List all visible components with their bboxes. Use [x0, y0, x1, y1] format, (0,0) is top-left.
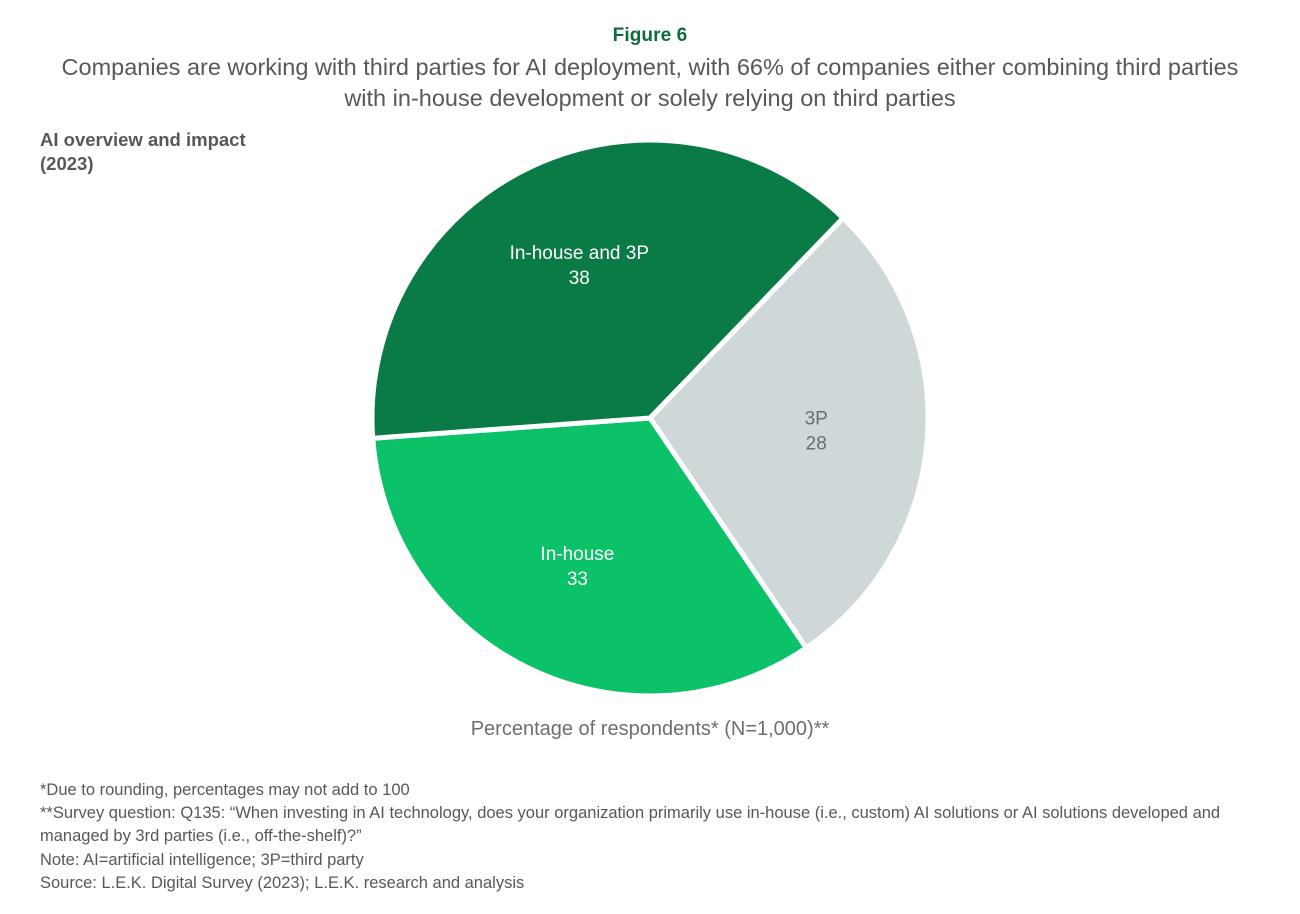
footnote-survey-question: **Survey question: Q135: “When investing… — [40, 802, 1250, 848]
pie-slice-value: 28 — [806, 433, 827, 454]
figure-page: Figure 6 Companies are working with thir… — [0, 0, 1300, 914]
footnote-rounding: *Due to rounding, percentages may not ad… — [40, 779, 1250, 802]
pie-slice-group — [372, 140, 928, 696]
footnote-source: Source: L.E.K. Digital Survey (2023); L.… — [40, 872, 1250, 895]
chart-subtitle: AI overview and impact (2023) — [40, 128, 246, 176]
pie-slice-value: 38 — [569, 268, 590, 289]
pie-chart: 3P28In-house33In-house and 3P38 — [370, 138, 930, 698]
pie-slice-value: 33 — [567, 569, 588, 590]
pie-chart-svg: 3P28In-house33In-house and 3P38 — [370, 138, 930, 698]
footnote-note: Note: AI=artificial intelligence; 3P=thi… — [40, 849, 1250, 872]
chart-axis-caption: Percentage of respondents* (N=1,000)** — [0, 718, 1300, 741]
pie-slice-label: In-house — [540, 544, 614, 565]
chart-subtitle-line1: AI overview and impact — [40, 129, 246, 150]
footnotes-block: *Due to rounding, percentages may not ad… — [40, 779, 1250, 895]
chart-subtitle-line2: (2023) — [40, 152, 246, 176]
pie-slice-label: In-house and 3P — [510, 243, 649, 264]
figure-title: Companies are working with third parties… — [38, 52, 1262, 114]
figure-number-label: Figure 6 — [0, 25, 1300, 47]
pie-slice-label: 3P — [805, 408, 828, 429]
